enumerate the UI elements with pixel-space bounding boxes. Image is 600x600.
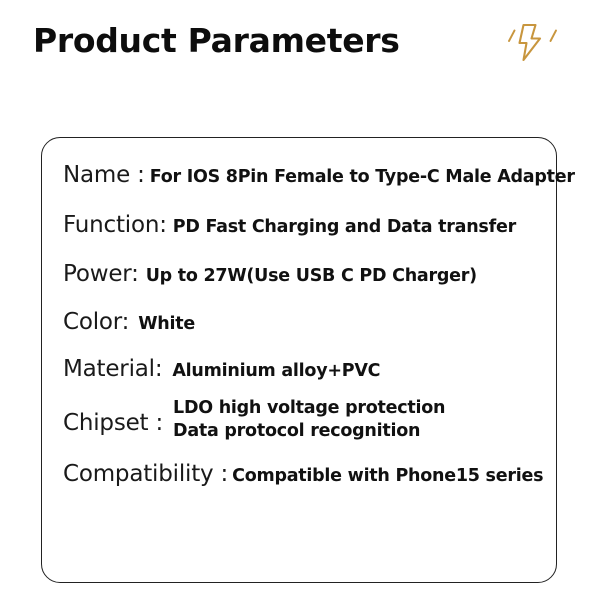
- spec-value-chipset-line-1: LDO high voltage protection: [173, 398, 445, 418]
- spec-card: Name : For IOS 8Pin Female to Type-C Mal…: [41, 137, 557, 583]
- spec-value-compatibility: Compatible with Phone15 series: [232, 466, 543, 486]
- spec-label-chipset: Chipset :: [63, 410, 163, 436]
- spec-row-compatibility: Compatibility : Compatible with Phone15 …: [63, 461, 546, 487]
- spec-row-power: Power: Up to 27W(Use USB C PD Charger): [63, 261, 546, 287]
- spec-label-function: Function:: [63, 212, 167, 238]
- product-parameters-page: Product Parameters Name : For IOS 8Pin F…: [0, 0, 600, 600]
- page-title: Product Parameters: [33, 22, 400, 60]
- spec-row-function: Function: PD Fast Charging and Data tran…: [63, 212, 546, 238]
- spec-value-material: Aluminium alloy+PVC: [172, 361, 380, 381]
- spec-label-compatibility: Compatibility :: [63, 461, 228, 487]
- spec-label-material: Material:: [63, 356, 162, 382]
- spec-label-name: Name :: [63, 162, 145, 188]
- lightning-bolt-icon: [498, 16, 566, 68]
- spec-value-name: For IOS 8Pin Female to Type-C Male Adapt…: [150, 167, 575, 187]
- spec-value-power: Up to 27W(Use USB C PD Charger): [146, 266, 477, 286]
- spec-row-color: Color: White: [63, 309, 546, 335]
- spec-list: Name : For IOS 8Pin Female to Type-C Mal…: [63, 162, 546, 487]
- spec-row-material: Material: Aluminium alloy+PVC: [63, 356, 546, 382]
- page-header: Product Parameters: [0, 0, 600, 100]
- spec-value-function: PD Fast Charging and Data transfer: [173, 217, 516, 237]
- spec-value-chipset: LDO high voltage protection Data protoco…: [173, 398, 445, 441]
- spec-row-chipset: Chipset : LDO high voltage protection Da…: [63, 398, 546, 441]
- spec-label-color: Color:: [63, 309, 129, 335]
- spec-row-name: Name : For IOS 8Pin Female to Type-C Mal…: [63, 162, 546, 188]
- spec-label-power: Power:: [63, 261, 139, 287]
- spec-value-chipset-line-2: Data protocol recognition: [173, 421, 445, 441]
- spec-value-color: White: [138, 314, 195, 334]
